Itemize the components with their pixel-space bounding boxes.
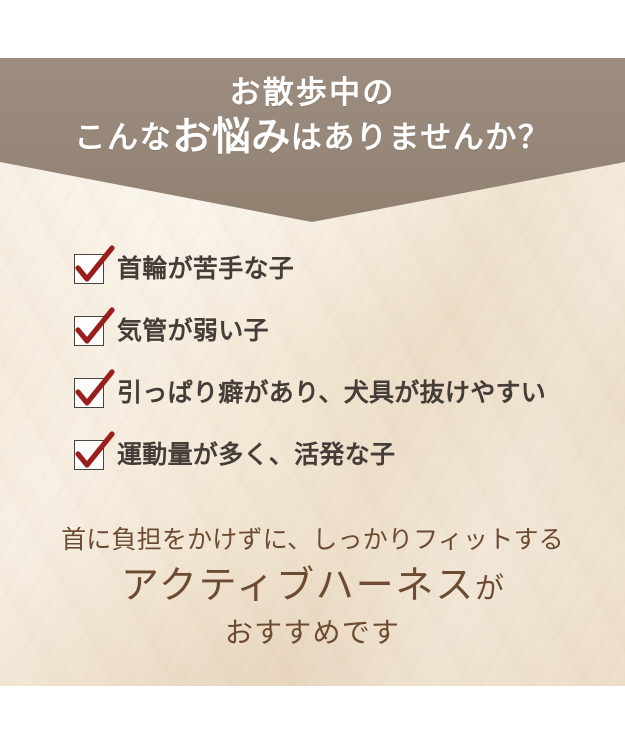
- checkbox-checked-icon[interactable]: [74, 254, 104, 284]
- list-item[interactable]: 気管が弱い子: [74, 312, 594, 350]
- checkbox-checked-icon[interactable]: [74, 440, 104, 470]
- checkbox-checked-icon[interactable]: [74, 378, 104, 408]
- checkmark-icon: [71, 246, 115, 288]
- checkbox-checked-icon[interactable]: [74, 316, 104, 346]
- product-name: アクティブハーネス: [121, 565, 475, 607]
- list-item-label: 引っぱり癖があり、犬具が抜けやすい: [117, 381, 546, 406]
- closing-message-line2: アクティブハーネスが: [0, 560, 625, 614]
- list-item-label: 首輪が苦手な子: [117, 257, 294, 282]
- list-item[interactable]: 引っぱり癖があり、犬具が抜けやすい: [74, 374, 594, 412]
- checkmark-icon: [71, 308, 115, 350]
- concerns-checklist: 首輪が苦手な子 気管が弱い子 引っぱり癖があり、犬具が抜けやすい: [74, 250, 594, 474]
- list-item[interactable]: 首輪が苦手な子: [74, 250, 594, 288]
- closing-message-line2-particle: が: [475, 573, 504, 605]
- closing-message-line1: 首に負担をかけずに、しっかりフィットする: [0, 524, 625, 558]
- list-item-label: 気管が弱い子: [117, 319, 269, 344]
- list-item[interactable]: 運動量が多く、活発な子: [74, 436, 594, 474]
- promo-poster: お散歩中の こんなお悩みはありませんか？ 首輪が苦手な子 気管が弱い子: [0, 0, 625, 750]
- list-item-label: 運動量が多く、活発な子: [117, 443, 395, 468]
- checkmark-icon: [71, 370, 115, 412]
- checkmark-icon: [71, 432, 115, 474]
- closing-message: 首に負担をかけずに、しっかりフィットする アクティブハーネスが おすすめです: [0, 524, 625, 652]
- closing-message-line3: おすすめです: [0, 616, 625, 652]
